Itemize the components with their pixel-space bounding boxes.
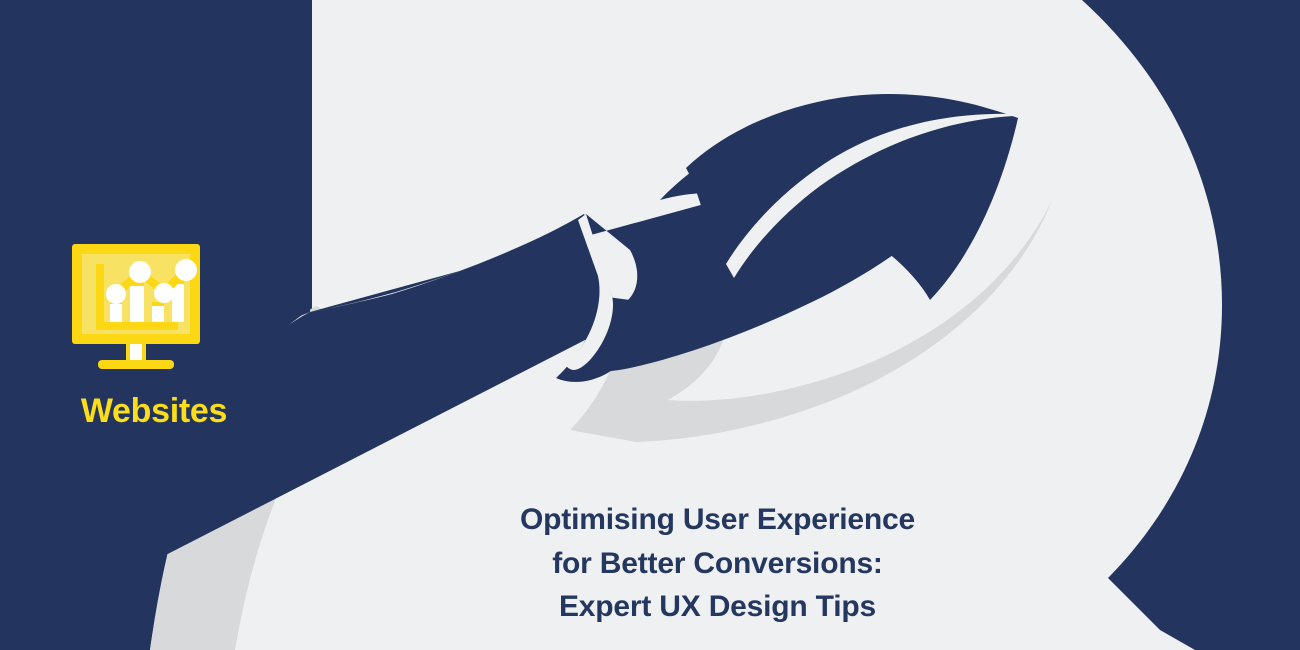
page-title: Optimising User Experience for Better Co…	[410, 498, 1025, 629]
analytics-monitor-icon	[68, 238, 204, 374]
page-title-line-3: Expert UX Design Tips	[410, 585, 1025, 629]
page-title-line-1: Optimising User Experience	[410, 498, 1025, 542]
category-badge: Websites	[54, 238, 254, 428]
category-label: Websites	[54, 394, 254, 428]
blog-banner: Websites Optimising User Experience for …	[0, 0, 1300, 650]
page-title-line-2: for Better Conversions:	[410, 542, 1025, 586]
